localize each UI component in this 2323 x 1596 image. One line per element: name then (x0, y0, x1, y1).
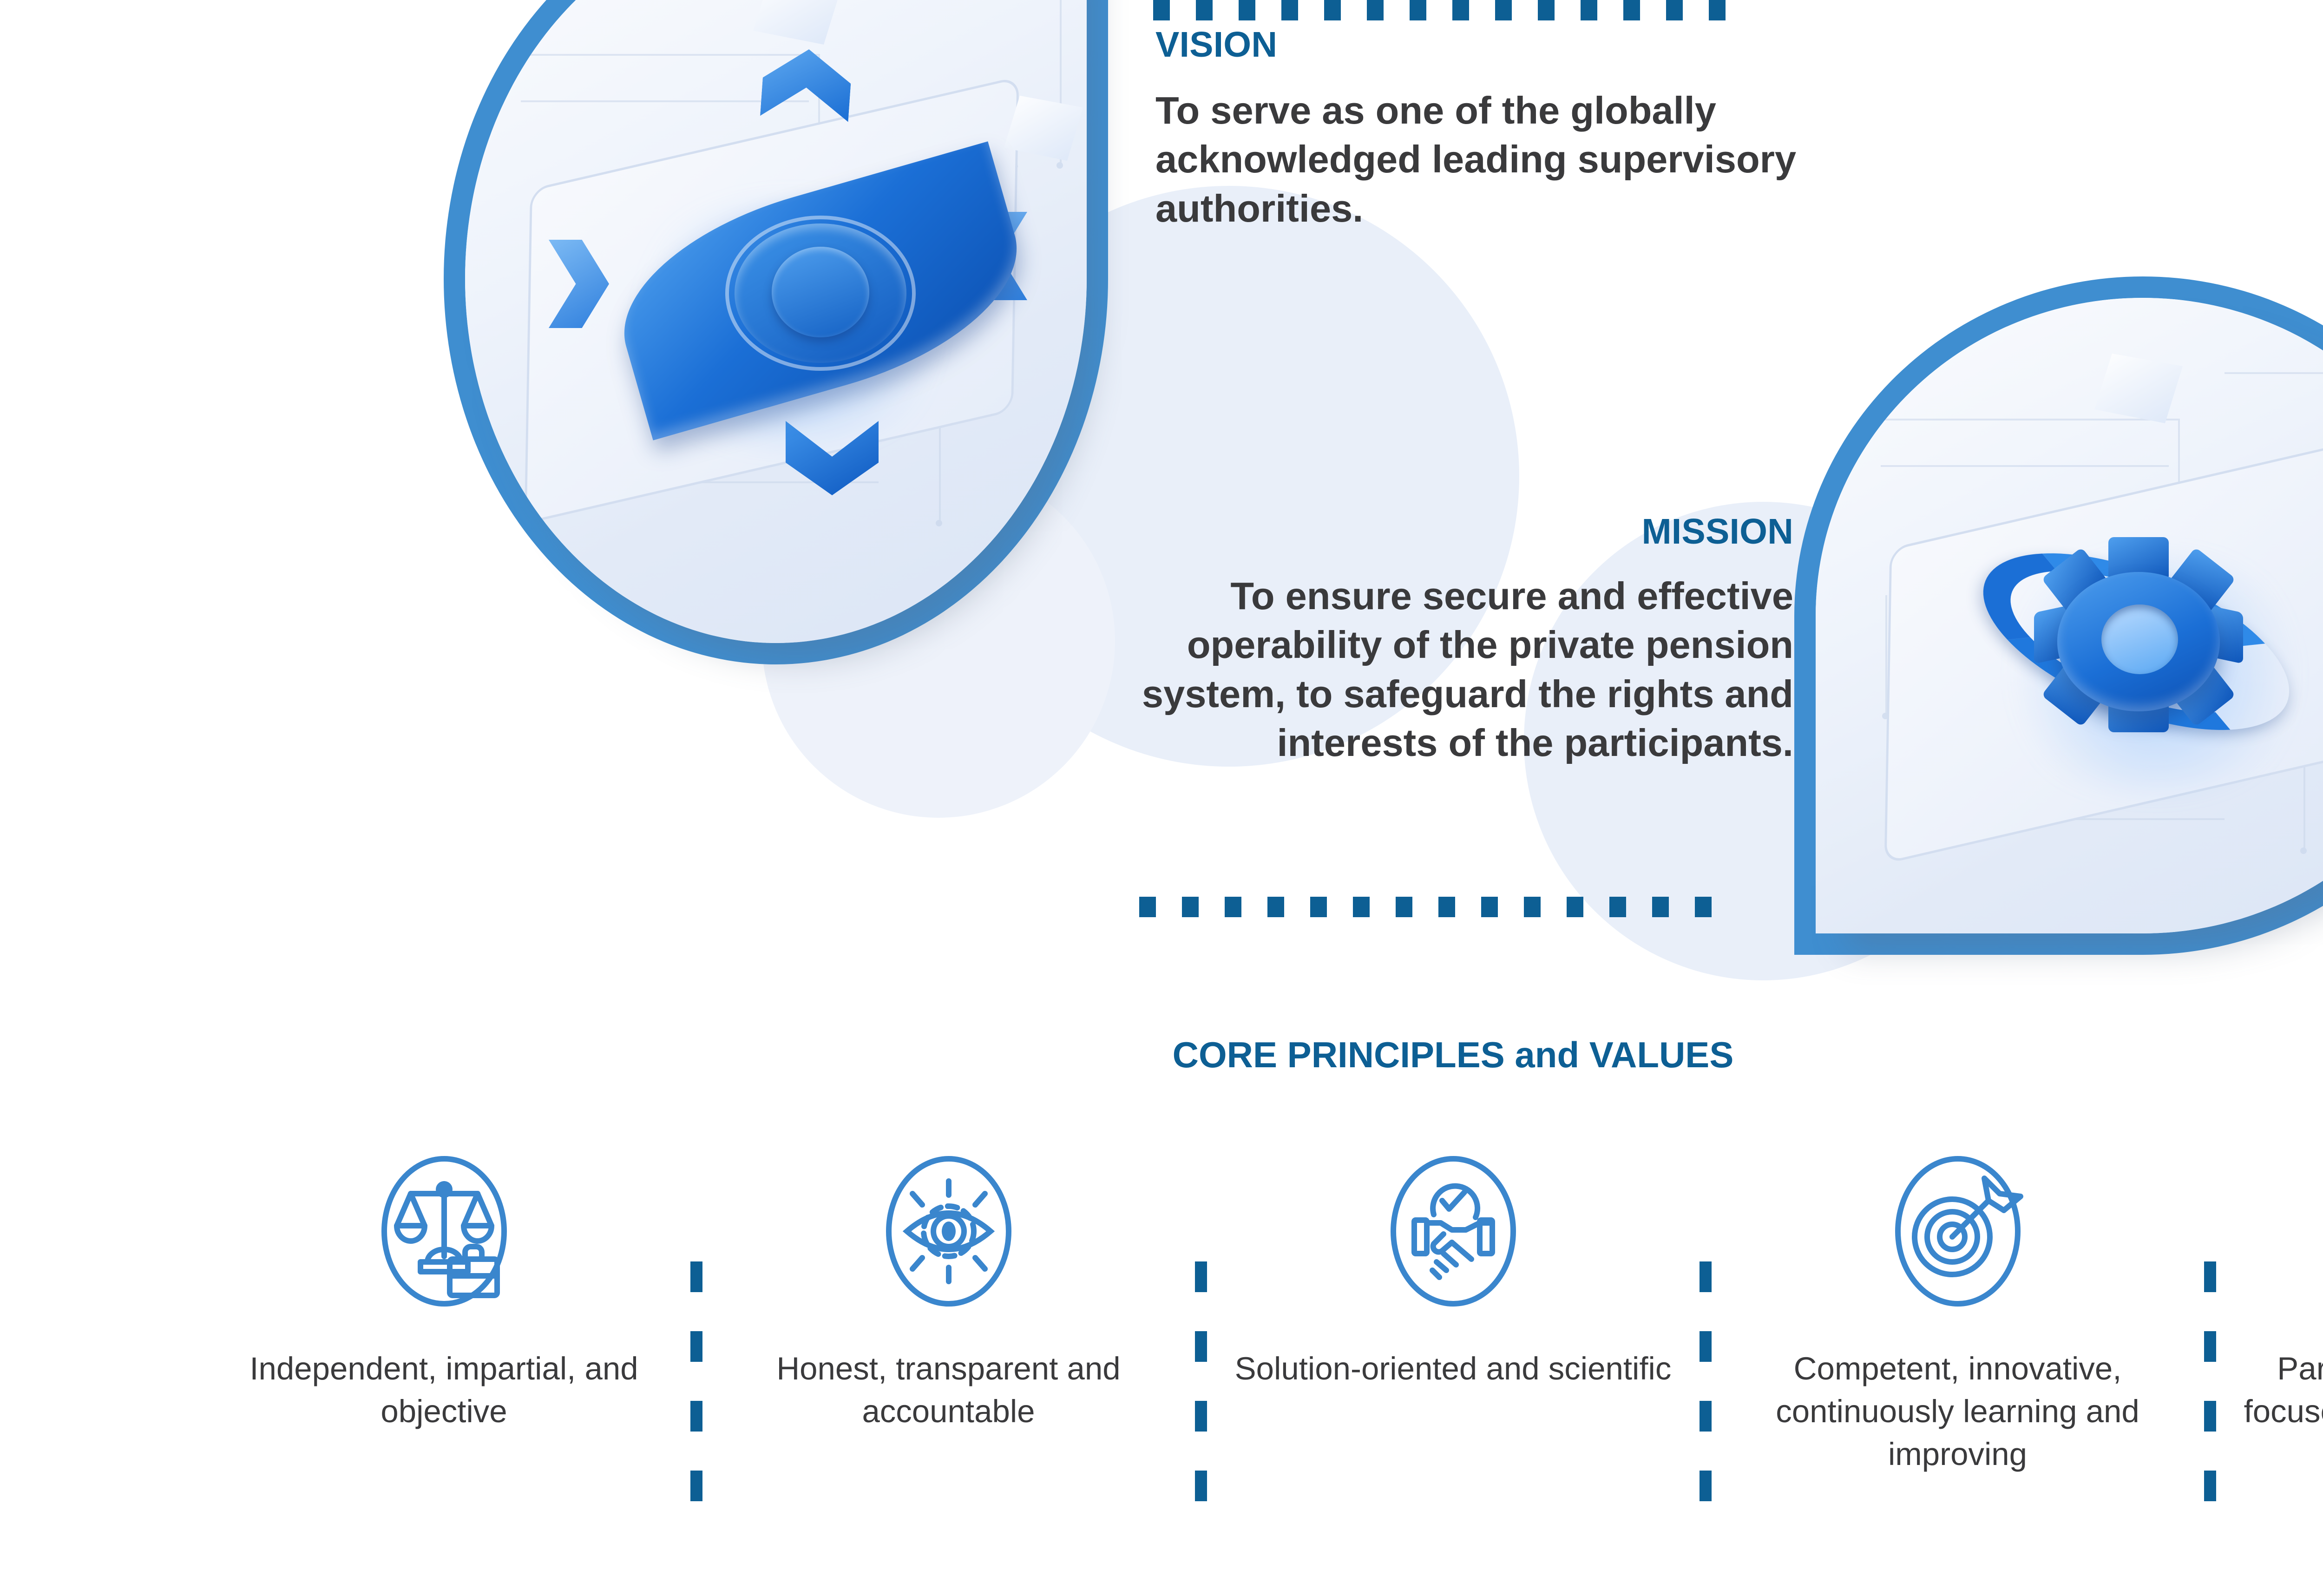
value-separator-2 (1190, 1261, 1212, 1501)
core-value-item-2[interactable]: Honest, transparent and accountable (707, 1148, 1190, 1433)
core-value-item-1[interactable]: Independent, impartial, and objective (203, 1148, 686, 1433)
core-value-item-4[interactable]: Competent, innovative, continuously lear… (1716, 1148, 2199, 1475)
vision-heading: VISION (1155, 24, 1277, 66)
core-value-item-3[interactable]: Solution-oriented and scientific (1212, 1148, 1695, 1390)
value-separator-3 (1695, 1261, 1716, 1501)
vision-image-tile (444, 0, 1108, 664)
vision-photo (465, 0, 1087, 643)
dashed-rule-top (1153, 0, 1726, 20)
mission-image-tile (1794, 276, 2323, 955)
mission-body-text: To ensure secure and effective operabili… (1069, 571, 1793, 768)
value-separator-4 (2199, 1261, 2221, 1501)
core-value-label-3: Solution-oriented and scientific (1226, 1347, 1681, 1390)
mission-photo (1816, 298, 2323, 933)
vision-body-text: To serve as one of the globally acknowle… (1155, 86, 1945, 233)
core-principles-heading: CORE PRINCIPLES and VALUES (0, 1034, 2323, 1076)
eye-rays-icon (879, 1148, 1018, 1315)
mission-heading: MISSION (1069, 511, 1793, 552)
value-separator-1 (686, 1261, 707, 1501)
eye-3d-object (618, 175, 1023, 416)
handshake-check-icon (1384, 1148, 1523, 1315)
target-arrow-icon (1888, 1148, 2028, 1315)
core-values-row: Independent, impartial, and objective (0, 1148, 2323, 1501)
core-value-label-5: Participatory, stakeholder-focused and q… (2221, 1347, 2323, 1475)
dashed-rule-bottom (1139, 897, 1712, 917)
infographic-canvas: VISION To serve as one of the globally a… (0, 0, 2323, 1596)
scales-briefcase-icon (374, 1148, 514, 1315)
core-value-label-4: Competent, innovative, continuously lear… (1716, 1347, 2199, 1475)
core-value-label-1: Independent, impartial, and objective (203, 1347, 686, 1433)
core-value-item-5[interactable]: Participatory, stakeholder-focused and q… (2221, 1148, 2323, 1475)
gear-3d-object (1969, 493, 2313, 781)
core-value-label-2: Honest, transparent and accountable (707, 1347, 1190, 1433)
